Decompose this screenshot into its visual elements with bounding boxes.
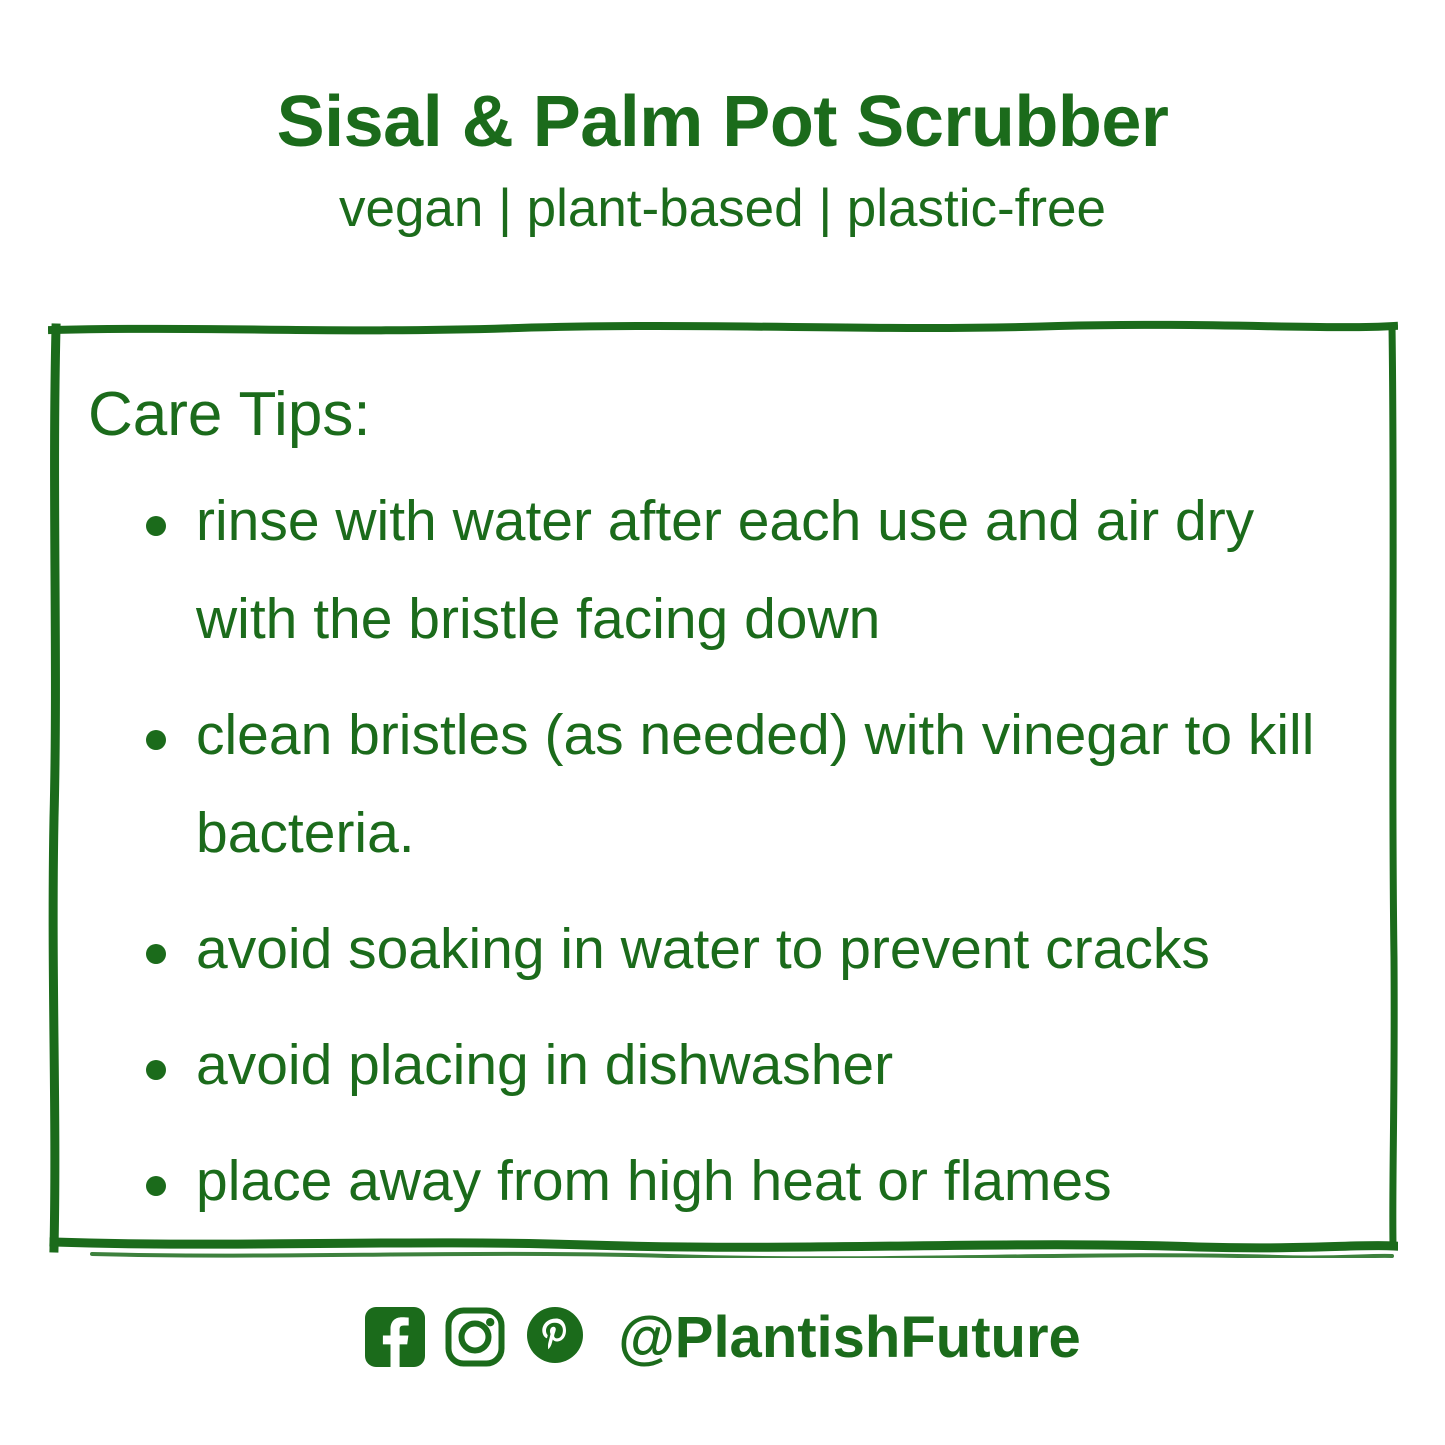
care-tips-content: Care Tips: rinse with water after each u… [88,384,1368,1230]
list-item-text: rinse with water after each use and air … [196,472,1368,668]
list-item-text: place away from high heat or flames [196,1132,1368,1230]
list-item-text: avoid soaking in water to prevent cracks [196,900,1368,998]
social-handle: @PlantishFuture [618,1309,1081,1367]
list-item-text: avoid placing in dishwasher [196,1016,1368,1114]
card-header: Sisal & Palm Pot Scrubber vegan | plant-… [0,86,1445,237]
bullet-icon [146,944,166,964]
facebook-icon[interactable] [364,1306,426,1368]
pinterest-icon[interactable] [524,1306,586,1368]
list-item: clean bristles (as needed) with vinegar … [88,686,1368,882]
card-footer: @PlantishFuture [0,1306,1445,1368]
bullet-icon [146,1060,166,1080]
social-icon-row [364,1306,586,1368]
list-item: avoid placing in dishwasher [88,1016,1368,1114]
care-tips-heading: Care Tips: [88,384,1368,446]
instagram-icon[interactable] [444,1306,506,1368]
list-item: place away from high heat or flames [88,1132,1368,1230]
product-tagline: vegan | plant-based | plastic-free [0,181,1445,237]
bullet-icon [146,516,166,536]
care-tips-box: Care Tips: rinse with water after each u… [48,318,1398,1258]
page-title: Sisal & Palm Pot Scrubber [0,86,1445,159]
care-tips-list: rinse with water after each use and air … [88,472,1368,1230]
bullet-icon [146,730,166,750]
list-item: avoid soaking in water to prevent cracks [88,900,1368,998]
list-item-text: clean bristles (as needed) with vinegar … [196,686,1368,882]
care-tips-card: Sisal & Palm Pot Scrubber vegan | plant-… [0,0,1445,1445]
bullet-icon [146,1176,166,1196]
list-item: rinse with water after each use and air … [88,472,1368,668]
